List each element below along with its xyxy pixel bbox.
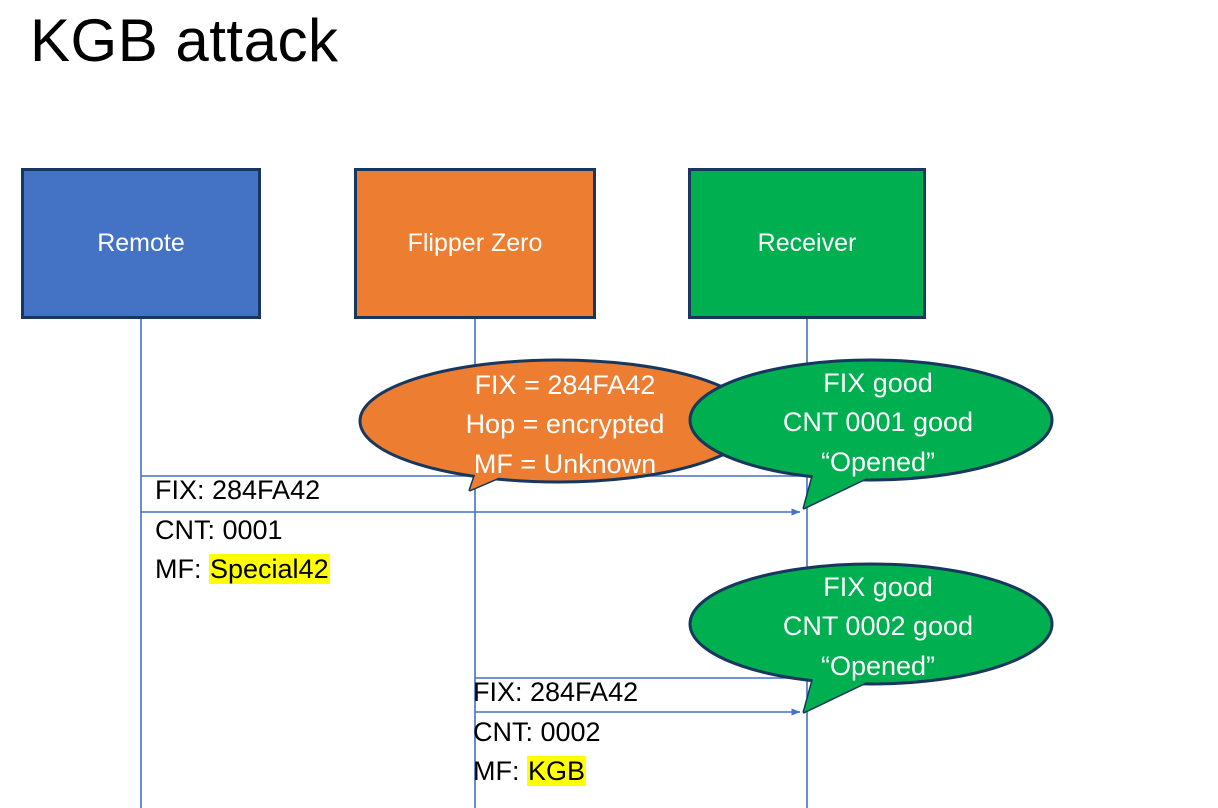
actor-box-receiver[interactable]: Receiver <box>688 168 926 319</box>
message-2-fix: FIX: 284FA42 <box>473 673 638 713</box>
actor-box-flipper[interactable]: Flipper Zero <box>354 168 596 319</box>
speech-bubble-receiver-1 <box>690 360 1052 508</box>
message-1-mf-value: Special42 <box>209 554 330 584</box>
actor-label-flipper: Flipper Zero <box>408 229 543 258</box>
message-1-mf: MF: Special42 <box>155 550 330 590</box>
message-2-label: FIX: 284FA42 CNT: 0002 MF: KGB <box>473 673 638 792</box>
message-2-cnt: CNT: 0002 <box>473 713 638 753</box>
message-1-label: FIX: 284FA42 CNT: 0001 MF: Special42 <box>155 471 330 590</box>
slide-canvas: KGB attack <box>0 0 1218 808</box>
actor-box-remote[interactable]: Remote <box>21 168 261 319</box>
message-2-mf: MF: KGB <box>473 752 638 792</box>
speech-bubble-receiver-2 <box>690 564 1052 712</box>
actor-label-remote: Remote <box>97 229 185 258</box>
message-1-mf-prefix: MF: <box>155 554 209 584</box>
message-2-mf-value: KGB <box>527 756 586 786</box>
message-2-mf-prefix: MF: <box>473 756 527 786</box>
actor-label-receiver: Receiver <box>758 229 857 258</box>
message-1-cnt: CNT: 0001 <box>155 511 330 551</box>
message-1-fix: FIX: 284FA42 <box>155 471 330 511</box>
